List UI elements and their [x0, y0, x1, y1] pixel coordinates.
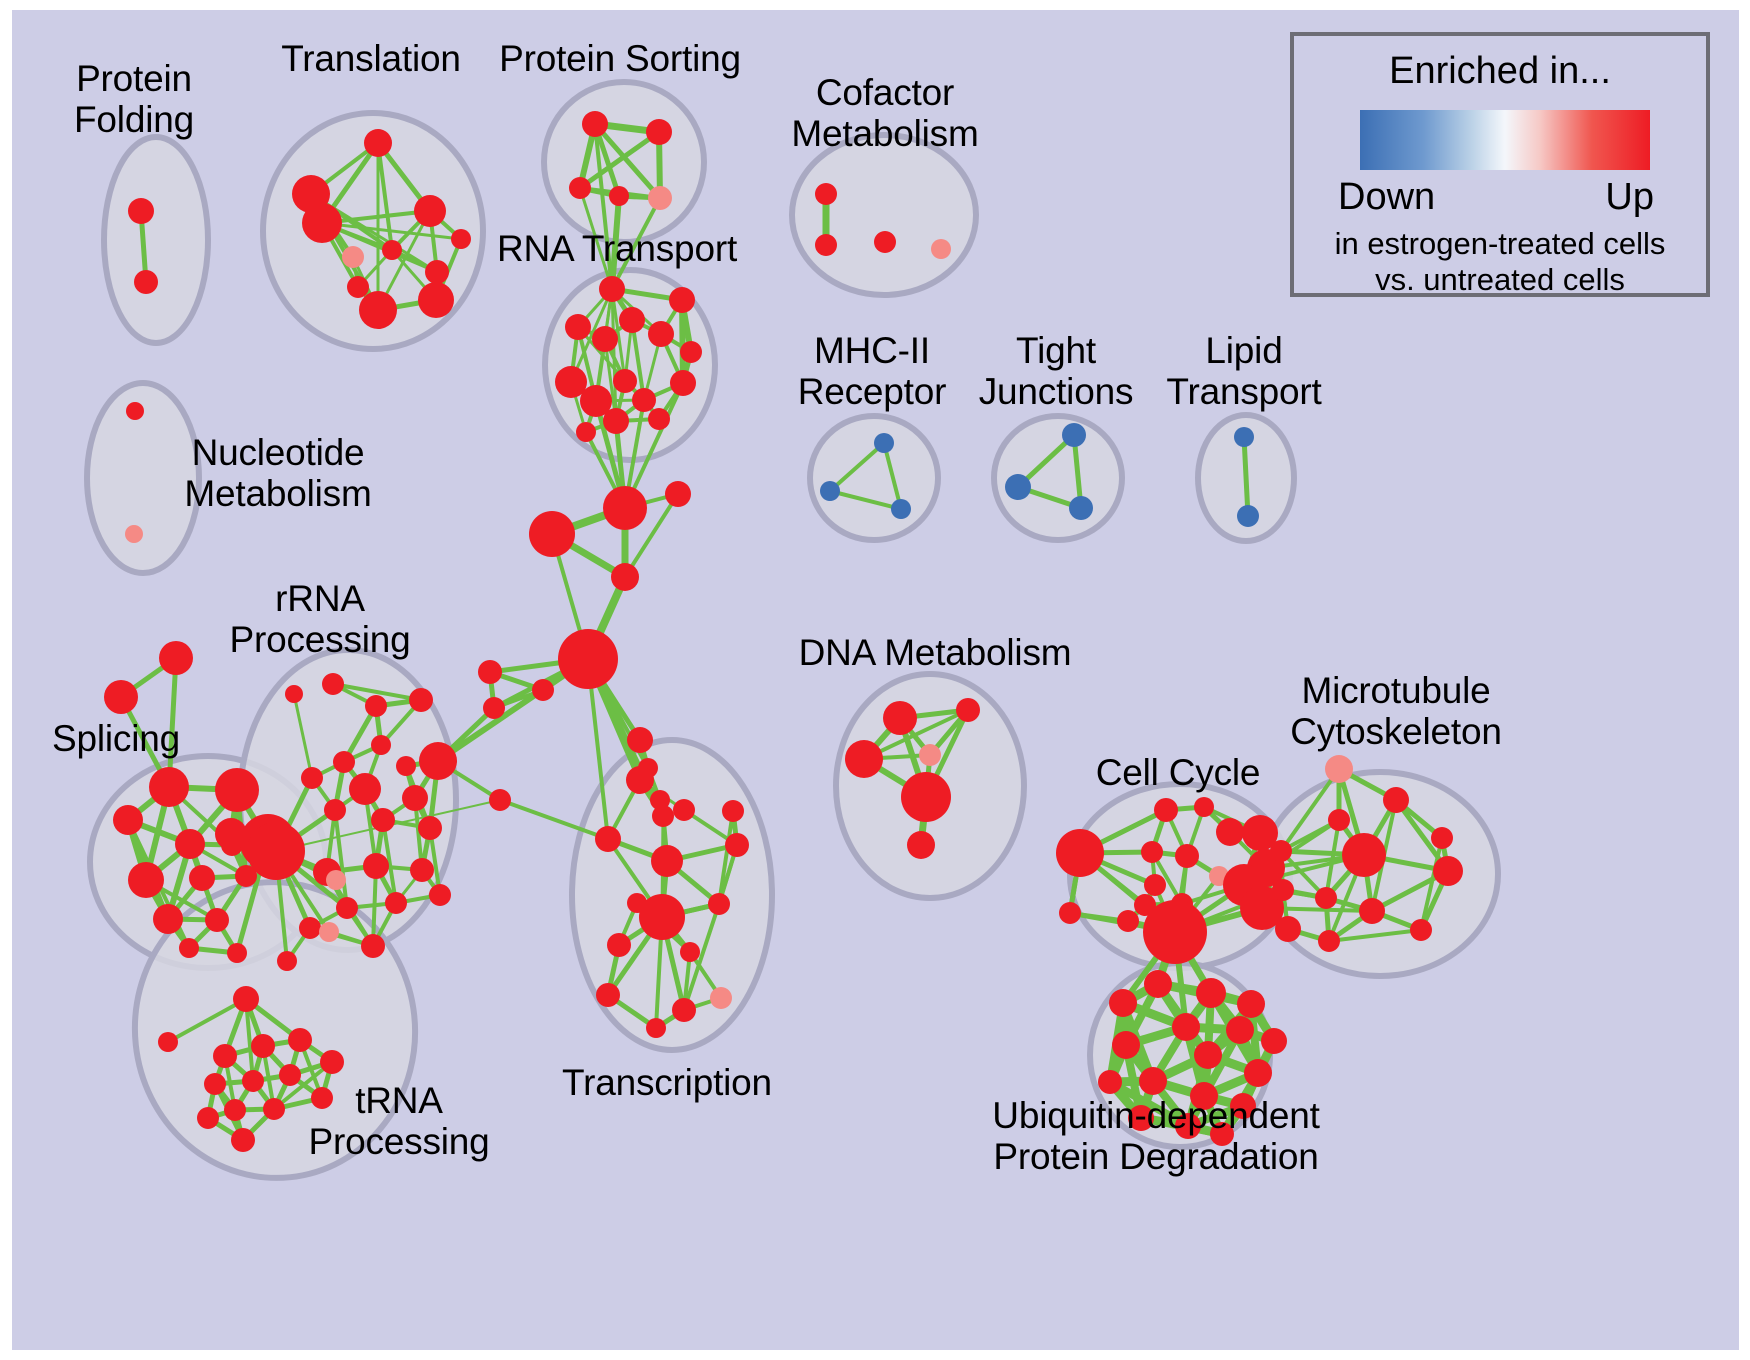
gene-set-node-trna-processing[interactable] — [279, 1064, 301, 1086]
gene-set-node-protein-folding[interactable] — [134, 270, 158, 294]
gene-set-node-transcription[interactable] — [651, 845, 683, 877]
gene-set-node[interactable] — [665, 481, 691, 507]
gene-set-node-tight-junctions[interactable] — [1062, 423, 1086, 447]
gene-set-node[interactable] — [529, 511, 575, 557]
gene-set-node-rna-transport[interactable] — [680, 341, 702, 363]
gene-set-node-rrna-processing[interactable] — [419, 742, 457, 780]
gene-set-node-rrna-processing[interactable] — [247, 822, 305, 880]
gene-set-node-splicing[interactable] — [205, 908, 229, 932]
gene-set-node-rrna-processing[interactable] — [363, 853, 389, 879]
gene-set-node-translation[interactable] — [451, 229, 471, 249]
cluster-label-protein-sorting: Protein Sorting — [499, 38, 741, 79]
gene-set-node-cell-cycle[interactable] — [1117, 910, 1139, 932]
legend-subtitle-line2: vs. untreated cells — [1294, 262, 1706, 298]
cluster-label-rrna-processing: rRNA Processing — [229, 578, 410, 661]
legend-title: Enriched in... — [1294, 50, 1706, 93]
gene-set-node-microtubule-cytoskeleton[interactable] — [1433, 856, 1463, 886]
gene-set-node-rrna-processing[interactable] — [409, 688, 433, 712]
gene-set-node-microtubule-cytoskeleton[interactable] — [1272, 879, 1294, 901]
gene-set-node-rrna-processing[interactable] — [371, 808, 395, 832]
gene-set-node-ubiquitin-protein-degradation[interactable] — [1112, 1031, 1140, 1059]
gene-set-node-nucleotide-metabolism[interactable] — [125, 525, 143, 543]
legend-high-label: Up — [1605, 176, 1654, 219]
gene-set-node-rrna-processing[interactable] — [285, 685, 303, 703]
gene-set-node-rrna-processing[interactable] — [322, 673, 344, 695]
gene-set-node-microtubule-cytoskeleton[interactable] — [1270, 840, 1292, 862]
gene-set-node-transcription[interactable] — [607, 933, 631, 957]
gene-set-node-trna-processing[interactable] — [251, 1034, 275, 1058]
gene-set-node-rna-transport[interactable] — [619, 307, 645, 333]
gene-set-node-rna-transport[interactable] — [632, 388, 656, 412]
gene-set-node-nucleotide-metabolism[interactable] — [126, 402, 144, 420]
gene-set-node-mhc-ii-receptor[interactable] — [874, 433, 894, 453]
gene-set-node-cell-cycle[interactable] — [1144, 874, 1166, 896]
gene-set-node-microtubule-cytoskeleton[interactable] — [1359, 898, 1385, 924]
gene-set-node-rrna-processing[interactable] — [418, 816, 442, 840]
gene-set-node-lipid-transport[interactable] — [1237, 505, 1259, 527]
gene-set-node-splicing[interactable] — [153, 904, 183, 934]
gene-set-node-rna-transport[interactable] — [576, 422, 596, 442]
gene-set-node-transcription[interactable] — [725, 833, 749, 857]
cluster-label-lipid-transport: Lipid Transport — [1166, 330, 1321, 413]
gene-set-node-cofactor-metabolism[interactable] — [931, 239, 951, 259]
gene-set-node-rrna-processing[interactable] — [402, 785, 428, 811]
gene-set-node-trna-processing[interactable] — [197, 1107, 219, 1129]
cluster-label-transcription: Transcription — [562, 1062, 772, 1103]
cluster-hull-protein-folding[interactable] — [104, 137, 208, 343]
gene-set-node-transcription[interactable] — [626, 766, 654, 794]
gene-set-node-translation[interactable] — [425, 260, 449, 284]
gene-set-node-protein-folding[interactable] — [128, 198, 154, 224]
gene-set-node[interactable] — [532, 679, 554, 701]
gene-set-node-splicing[interactable] — [189, 865, 215, 891]
gene-set-node-microtubule-cytoskeleton[interactable] — [1431, 827, 1453, 849]
cluster-label-microtubule-cytoskeleton: Microtubule Cytoskeleton — [1290, 670, 1502, 753]
gene-set-node-microtubule-cytoskeleton[interactable] — [1383, 787, 1409, 813]
gene-set-node-rna-transport[interactable] — [603, 408, 629, 434]
gene-set-node-dna-metabolism[interactable] — [883, 701, 917, 735]
gene-set-node-cell-cycle[interactable] — [1143, 900, 1207, 964]
gene-set-node-trna-processing[interactable] — [263, 1098, 285, 1120]
gene-set-node-cell-cycle[interactable] — [1194, 797, 1214, 817]
gene-set-node-microtubule-cytoskeleton[interactable] — [1328, 809, 1350, 831]
gene-set-node-rrna-processing[interactable] — [333, 751, 355, 773]
gene-set-node-tight-junctions[interactable] — [1069, 496, 1093, 520]
gene-set-node-ubiquitin-protein-degradation[interactable] — [1109, 989, 1137, 1017]
gene-set-node-transcription[interactable] — [595, 826, 621, 852]
gene-set-node-splicing[interactable] — [215, 818, 247, 850]
gene-set-node-rrna-processing[interactable] — [324, 799, 346, 821]
gene-set-node-trna-processing[interactable] — [213, 1044, 237, 1068]
gene-set-node-rrna-processing[interactable] — [385, 892, 407, 914]
gene-set-node-protein-sorting[interactable] — [609, 186, 629, 206]
cluster-label-trna-processing: tRNA Processing — [308, 1080, 489, 1163]
gene-set-node-microtubule-cytoskeleton[interactable] — [1315, 887, 1337, 909]
gene-set-node-rrna-processing[interactable] — [319, 922, 339, 942]
gene-set-node-microtubule-cytoskeleton[interactable] — [1318, 930, 1340, 952]
gene-set-node[interactable] — [611, 563, 639, 591]
gene-set-node-translation[interactable] — [347, 276, 369, 298]
gene-set-node-ubiquitin-protein-degradation[interactable] — [1196, 978, 1226, 1008]
gene-set-node-rrna-processing[interactable] — [396, 756, 416, 776]
gene-set-node-transcription[interactable] — [652, 805, 674, 827]
gene-set-node-splicing[interactable] — [159, 641, 193, 675]
gene-set-node-translation[interactable] — [418, 282, 454, 318]
gene-set-node-protein-sorting[interactable] — [648, 186, 672, 210]
gene-set-node-ubiquitin-protein-degradation[interactable] — [1139, 1067, 1167, 1095]
gene-set-node-protein-sorting[interactable] — [646, 119, 672, 145]
cluster-label-cofactor-metabolism: Cofactor Metabolism — [791, 72, 978, 155]
gene-set-node-transcription[interactable] — [673, 799, 695, 821]
cluster-label-mhc-ii-receptor: MHC-II Receptor — [798, 330, 947, 413]
gene-set-node-rrna-processing[interactable] — [299, 917, 321, 939]
gene-set-node-ubiquitin-protein-degradation[interactable] — [1194, 1041, 1222, 1069]
gene-set-node-transcription[interactable] — [680, 942, 700, 962]
gene-set-node-dna-metabolism[interactable] — [901, 772, 951, 822]
gene-set-node-trna-processing[interactable] — [320, 1050, 344, 1074]
gene-set-node-cell-cycle[interactable] — [1141, 841, 1163, 863]
gene-set-node-ubiquitin-protein-degradation[interactable] — [1261, 1028, 1287, 1054]
gene-set-node-rrna-processing[interactable] — [361, 934, 385, 958]
gene-set-node-rrna-processing[interactable] — [371, 735, 391, 755]
gene-set-node-transcription[interactable] — [672, 998, 696, 1022]
gene-set-node-trna-processing[interactable] — [231, 1128, 255, 1152]
gene-set-node-rrna-processing[interactable] — [301, 767, 323, 789]
gene-set-node-trna-processing[interactable] — [158, 1032, 178, 1052]
enrichment-map-figure: Protein FoldingNucleotide MetabolismTran… — [0, 0, 1750, 1360]
legend-panel: Enriched in... Down Up in estrogen-treat… — [1290, 32, 1710, 297]
gene-set-node-rrna-processing[interactable] — [410, 858, 434, 882]
legend-subtitle-line1: in estrogen-treated cells — [1294, 226, 1706, 262]
gene-set-node-ubiquitin-protein-degradation[interactable] — [1144, 970, 1172, 998]
gene-set-node-dna-metabolism[interactable] — [956, 698, 980, 722]
gene-set-node-rrna-processing[interactable] — [277, 951, 297, 971]
cluster-label-translation: Translation — [281, 38, 460, 79]
gene-set-node-rna-transport[interactable] — [592, 326, 618, 352]
gene-set-node-splicing[interactable] — [113, 805, 143, 835]
gene-set-node-protein-sorting[interactable] — [569, 177, 591, 199]
gene-set-node-lipid-transport[interactable] — [1234, 427, 1254, 447]
gene-set-node[interactable] — [478, 660, 502, 684]
gene-set-node-transcription[interactable] — [710, 987, 732, 1009]
gene-set-node-splicing[interactable] — [227, 943, 247, 963]
gene-set-node-cell-cycle[interactable] — [1216, 818, 1244, 846]
gene-set-node-translation[interactable] — [359, 291, 397, 329]
cluster-label-nucleotide-metabolism: Nucleotide Metabolism — [184, 432, 371, 515]
gene-set-node-tight-junctions[interactable] — [1005, 474, 1031, 500]
gene-set-node[interactable] — [627, 727, 653, 753]
cluster-hull-protein-sorting[interactable] — [544, 82, 704, 242]
gene-set-node-transcription[interactable] — [596, 983, 620, 1007]
gene-set-node-protein-sorting[interactable] — [582, 111, 608, 137]
cluster-label-rna-transport: RNA Transport — [497, 228, 737, 269]
gene-set-node-transcription[interactable] — [639, 894, 685, 940]
gene-set-node-rrna-processing[interactable] — [326, 870, 346, 890]
gene-set-node-rna-transport[interactable] — [648, 321, 674, 347]
gene-set-node-rna-transport[interactable] — [565, 314, 591, 340]
gene-set-node-mhc-ii-receptor[interactable] — [820, 481, 840, 501]
gene-set-node-rna-transport[interactable] — [648, 408, 670, 430]
gene-set-node-cell-cycle[interactable] — [1175, 844, 1199, 868]
gene-set-node-translation[interactable] — [414, 195, 446, 227]
gene-set-node-dna-metabolism[interactable] — [845, 740, 883, 778]
gene-set-node-rna-transport[interactable] — [669, 287, 695, 313]
gene-set-node[interactable] — [603, 486, 647, 530]
gene-set-node-cofactor-metabolism[interactable] — [874, 231, 896, 253]
gene-set-node-ubiquitin-protein-degradation[interactable] — [1172, 1013, 1200, 1041]
gene-set-node-splicing[interactable] — [128, 862, 164, 898]
gene-set-node-rrna-processing[interactable] — [365, 695, 387, 717]
cluster-label-ubiquitin-protein-degradation: Ubiquitin-dependent Protein Degradation — [992, 1095, 1319, 1178]
gene-set-node-dna-metabolism[interactable] — [907, 831, 935, 859]
gene-set-node-trna-processing[interactable] — [233, 986, 259, 1012]
gene-set-node-microtubule-cytoskeleton[interactable] — [1342, 833, 1386, 877]
gene-set-node-splicing[interactable] — [179, 938, 199, 958]
gene-set-node-splicing[interactable] — [149, 767, 189, 807]
gene-set-node-cofactor-metabolism[interactable] — [815, 234, 837, 256]
cluster-label-protein-folding: Protein Folding — [74, 58, 194, 141]
gene-set-node-rna-transport[interactable] — [613, 369, 637, 393]
gene-set-node-rna-transport[interactable] — [670, 370, 696, 396]
gene-set-node-transcription[interactable] — [722, 800, 744, 822]
gene-set-node-ubiquitin-protein-degradation[interactable] — [1226, 1016, 1254, 1044]
gene-set-node-transcription[interactable] — [708, 893, 730, 915]
gene-set-node-splicing[interactable] — [175, 829, 205, 859]
gene-set-node-translation[interactable] — [364, 129, 392, 157]
gene-set-node-rrna-processing[interactable] — [349, 773, 381, 805]
gene-set-node-mhc-ii-receptor[interactable] — [891, 499, 911, 519]
gene-set-node-splicing[interactable] — [104, 680, 138, 714]
gene-set-node-translation[interactable] — [292, 175, 330, 213]
gene-set-node-microtubule-cytoskeleton[interactable] — [1410, 919, 1432, 941]
gene-set-node-transcription[interactable] — [646, 1018, 666, 1038]
gene-set-node-cell-cycle[interactable] — [1154, 798, 1178, 822]
gene-set-node[interactable] — [483, 697, 505, 719]
gene-set-node-cell-cycle[interactable] — [1059, 902, 1081, 924]
legend-low-label: Down — [1338, 176, 1435, 219]
gene-set-node-ubiquitin-protein-degradation[interactable] — [1244, 1059, 1272, 1087]
cluster-label-cell-cycle: Cell Cycle — [1096, 752, 1261, 793]
gene-set-node[interactable] — [558, 629, 618, 689]
gene-set-node-trna-processing[interactable] — [242, 1070, 264, 1092]
gene-set-node-translation[interactable] — [342, 246, 364, 268]
gene-set-node-rrna-processing[interactable] — [336, 897, 358, 919]
gene-set-node-ubiquitin-protein-degradation[interactable] — [1237, 990, 1265, 1018]
cluster-hull-mhc-ii-receptor[interactable] — [810, 416, 938, 540]
gene-set-node-cell-cycle[interactable] — [1056, 829, 1104, 877]
cluster-label-dna-metabolism: DNA Metabolism — [799, 632, 1072, 673]
gene-set-node-rrna-processing[interactable] — [429, 884, 451, 906]
cluster-label-tight-junctions: Tight Junctions — [979, 330, 1134, 413]
gene-set-node-translation[interactable] — [382, 240, 402, 260]
legend-gradient-bar — [1360, 110, 1650, 170]
cluster-hull-cofactor-metabolism[interactable] — [792, 135, 976, 295]
gene-set-node-microtubule-cytoskeleton[interactable] — [1325, 755, 1353, 783]
gene-set-node-splicing[interactable] — [215, 768, 259, 812]
gene-set-node-trna-processing[interactable] — [204, 1073, 226, 1095]
gene-set-node-ubiquitin-protein-degradation[interactable] — [1098, 1070, 1122, 1094]
cluster-label-splicing: Splicing — [52, 718, 180, 759]
gene-set-node-rna-transport[interactable] — [599, 276, 625, 302]
gene-set-node-trna-processing[interactable] — [224, 1099, 246, 1121]
gene-set-node-microtubule-cytoskeleton[interactable] — [1275, 916, 1301, 942]
gene-set-node-dna-metabolism[interactable] — [919, 744, 941, 766]
gene-set-node-cofactor-metabolism[interactable] — [815, 183, 837, 205]
gene-set-node[interactable] — [489, 789, 511, 811]
gene-set-node-trna-processing[interactable] — [288, 1028, 312, 1052]
